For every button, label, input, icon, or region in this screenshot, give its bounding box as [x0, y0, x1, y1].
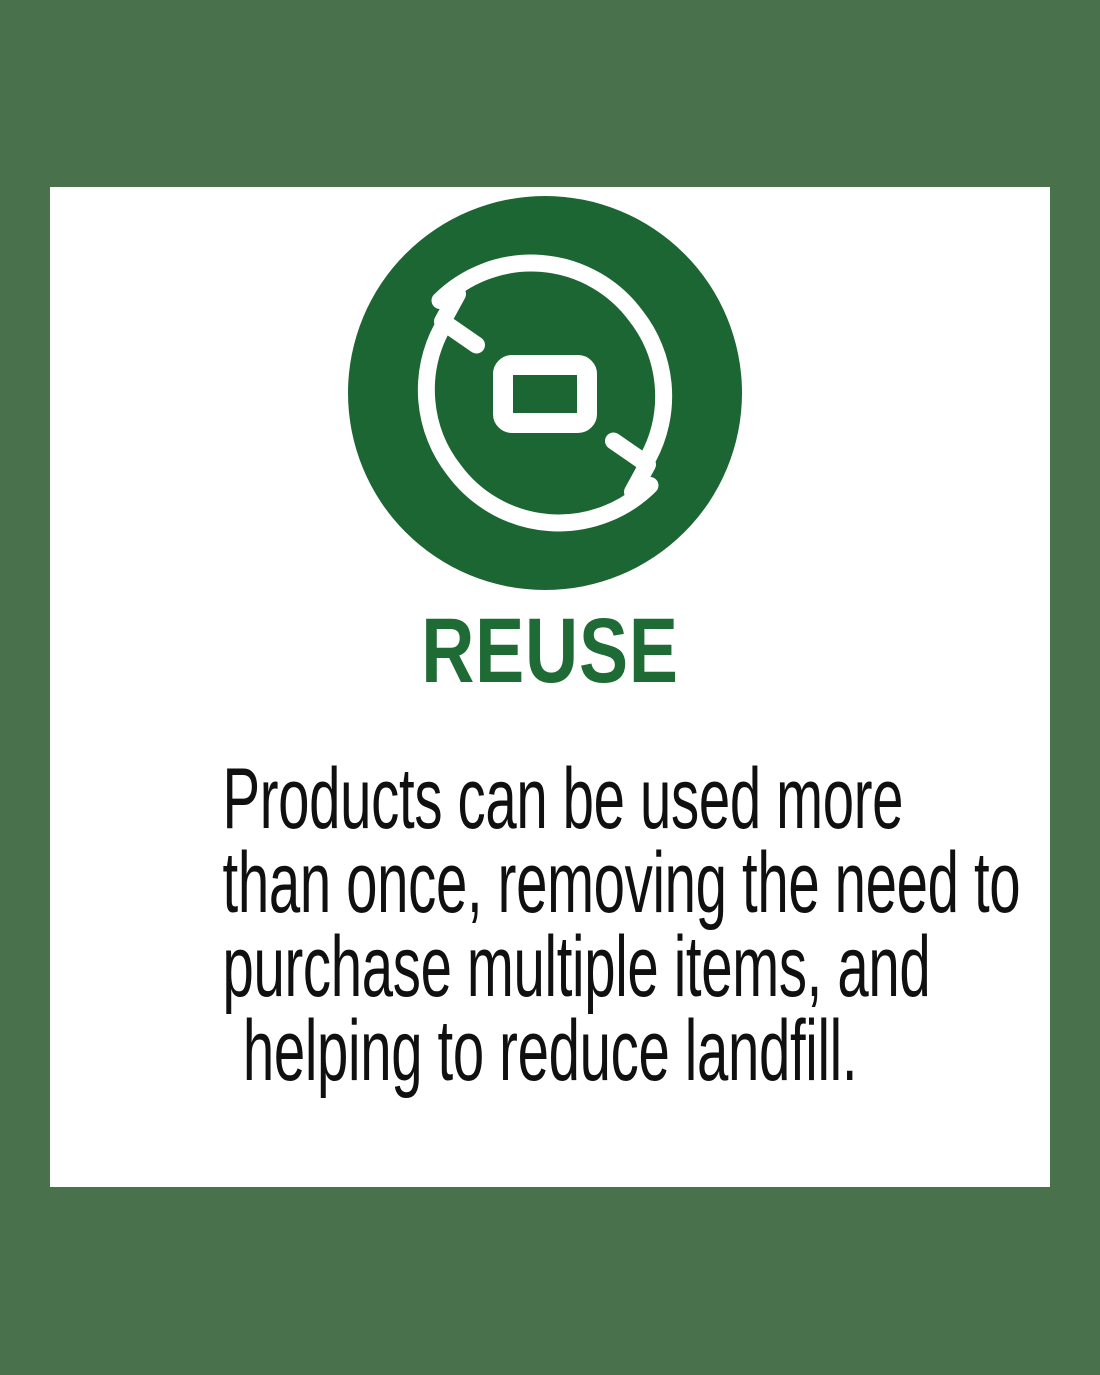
- body-line: Products can be used more: [223, 757, 878, 841]
- body-line: helping to reduce landfill.: [223, 1009, 878, 1093]
- reuse-cycle-icon: [348, 196, 742, 590]
- heading-container: REUSE: [50, 605, 1050, 697]
- reuse-info-card: REUSE Products can be used more than onc…: [50, 187, 1050, 1187]
- body-line: purchase multiple items, and: [223, 925, 878, 1009]
- arc-arrow-lower-left-head: [443, 294, 477, 345]
- page-title: REUSE: [421, 605, 679, 697]
- center-rounded-rectangle-icon: [503, 365, 587, 423]
- body-copy: Products can be used more than once, rem…: [50, 757, 1050, 1093]
- reuse-icon-badge: [348, 196, 742, 590]
- body-line: than once, removing the need to: [223, 841, 878, 925]
- infographic-canvas: REUSE Products can be used more than onc…: [0, 0, 1100, 1375]
